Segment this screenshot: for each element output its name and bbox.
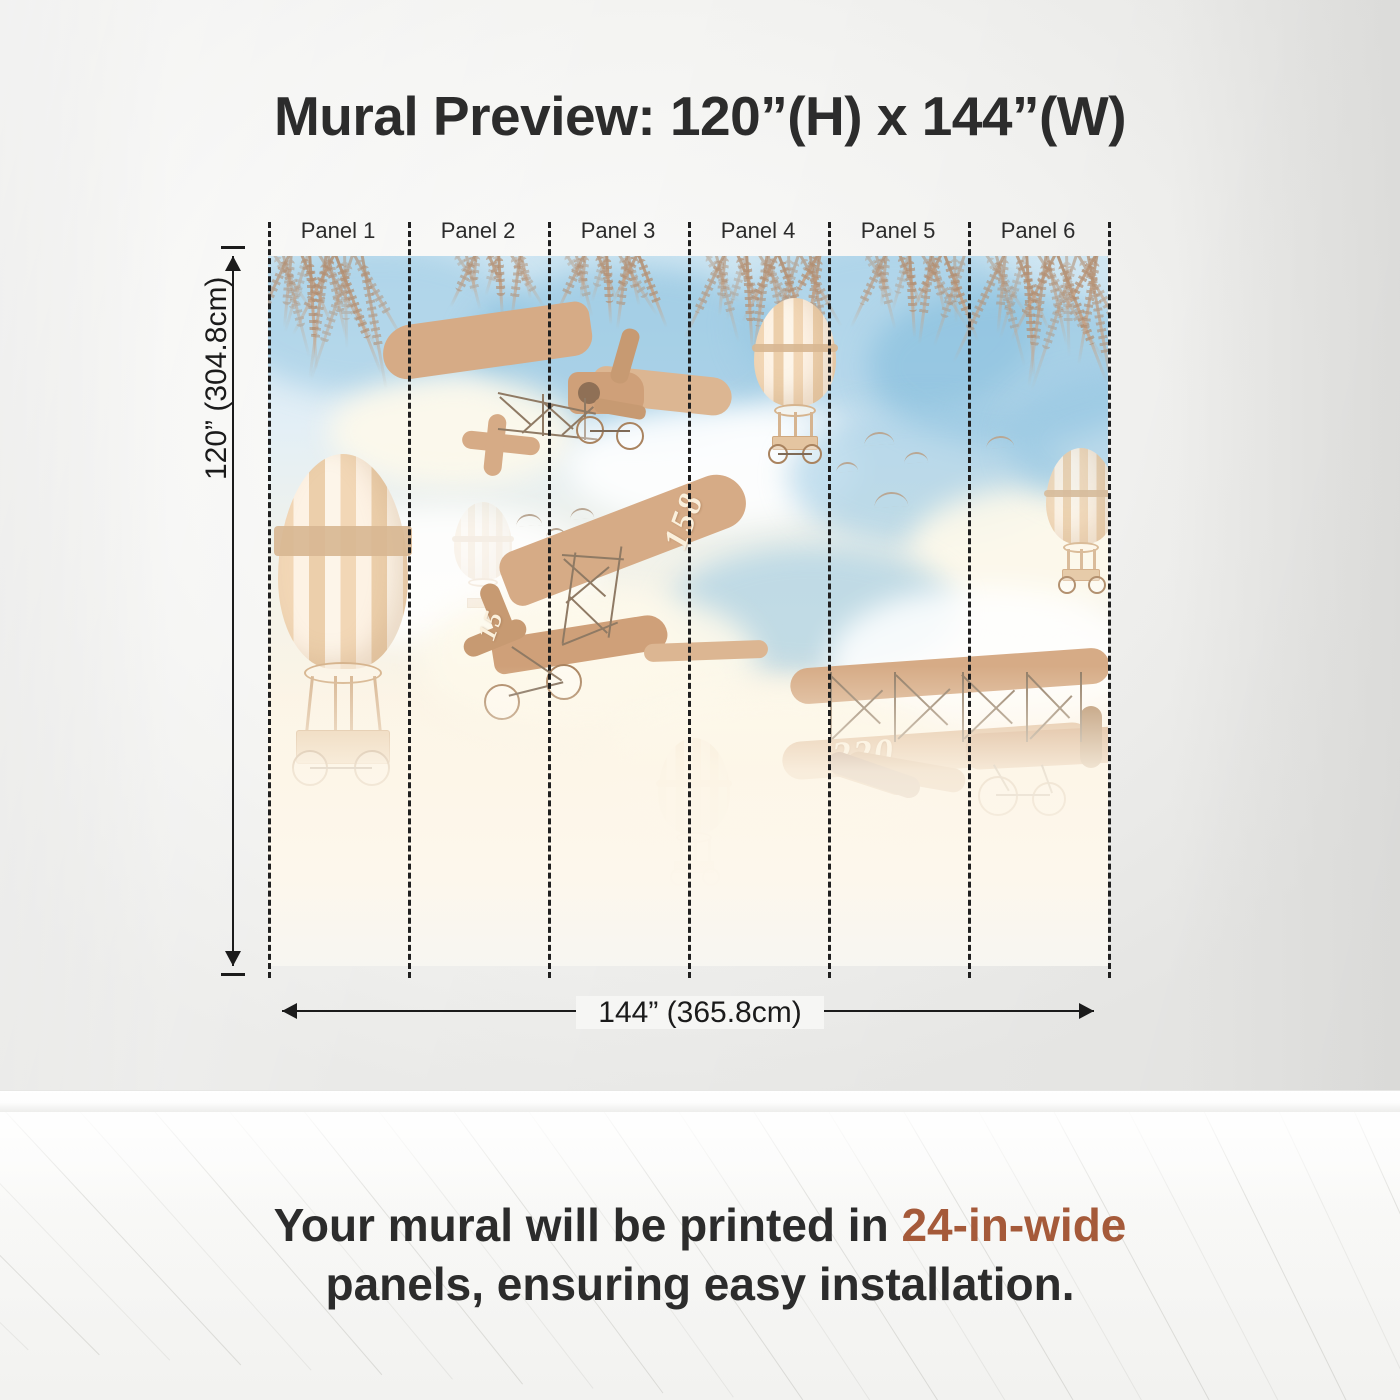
bird-icon [874, 492, 908, 507]
panel-divider-5 [968, 222, 971, 978]
baseboard [0, 1090, 1400, 1112]
height-dimension-label: 120” (304.8cm) [200, 277, 234, 480]
panel-label-1: Panel 1 [268, 218, 408, 244]
height-arrow-up [225, 256, 241, 271]
caption-accent: 24-in-wide [901, 1199, 1126, 1251]
bird-icon [986, 436, 1014, 448]
wall-right-shading [1170, 0, 1400, 1100]
hot-air-balloon [754, 298, 836, 458]
panel-label-4: Panel 4 [688, 218, 828, 244]
bird-icon [904, 452, 928, 463]
panel-divider-1 [408, 222, 411, 978]
height-dimension-cap-bottom [221, 973, 245, 976]
panel-label-6: Panel 6 [968, 218, 1108, 244]
width-dimension-label-wrap: 144” (365.8cm) [0, 996, 1400, 1030]
panel-divider-2 [548, 222, 551, 978]
bird-icon [864, 432, 894, 445]
hot-air-balloon [1046, 448, 1108, 588]
panel-label-3: Panel 3 [548, 218, 688, 244]
bird-icon [836, 462, 858, 472]
panel-divider-3 [688, 222, 691, 978]
width-dimension-label: 144” (365.8cm) [576, 996, 823, 1029]
panel-divider-6 [1108, 222, 1111, 978]
page-title: Mural Preview: 120”(H) x 144”(W) [0, 84, 1400, 148]
panel-divider-0 [268, 222, 271, 978]
height-arrow-down [225, 951, 241, 966]
caption-line-1-before: Your mural will be printed in [274, 1199, 902, 1251]
caption: Your mural will be printed in 24-in-wide… [0, 1196, 1400, 1314]
panel-label-5: Panel 5 [828, 218, 968, 244]
wall-left-shading [0, 0, 170, 1100]
caption-line-1: Your mural will be printed in 24-in-wide [0, 1196, 1400, 1255]
height-dimension-cap-top [221, 246, 245, 249]
caption-line-2: panels, ensuring easy installation. [0, 1255, 1400, 1314]
panel-divider-4 [828, 222, 831, 978]
panel-label-2: Panel 2 [408, 218, 548, 244]
